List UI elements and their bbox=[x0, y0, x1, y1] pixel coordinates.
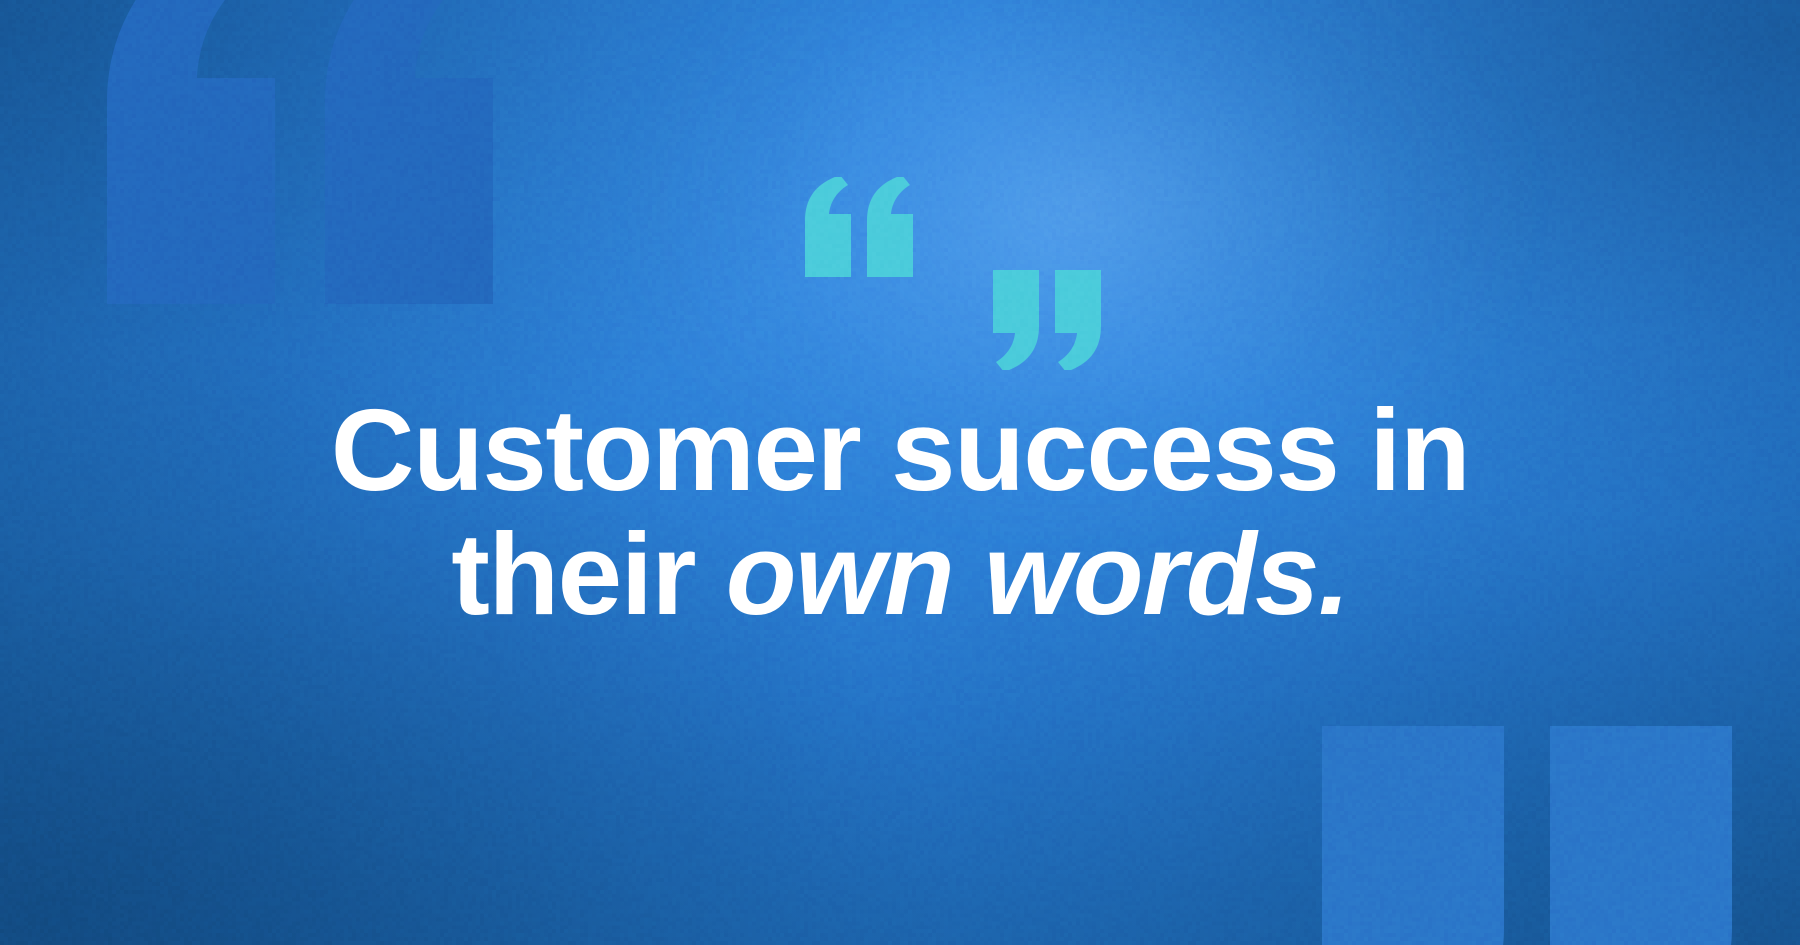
headline: Customer success in their own words. bbox=[0, 388, 1800, 636]
headline-line-1: Customer success in bbox=[90, 388, 1710, 512]
headline-line-2-emphasis: own words. bbox=[726, 509, 1349, 639]
headline-line-2-plain: their bbox=[451, 509, 726, 639]
quote-banner: Customer success in their own words. bbox=[0, 0, 1800, 945]
headline-line-2: their own words. bbox=[90, 512, 1710, 636]
